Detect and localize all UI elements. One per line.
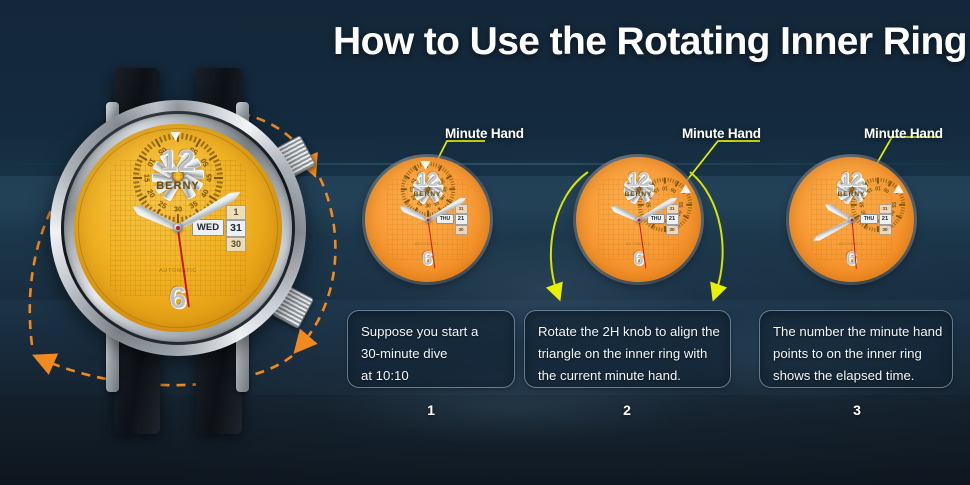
date-wheel: 312130 [665, 206, 679, 233]
step-watch-1: 0510152025303540455055126BERNYAUTOMATICT… [365, 157, 490, 282]
step-number-2: 2 [607, 402, 647, 418]
callout-1-line-2: 30-minute dive [361, 343, 501, 365]
date-text: 30 [879, 225, 892, 235]
minute-hand-label-2: Minute Hand [682, 126, 761, 141]
date-text: 21 [879, 214, 892, 224]
movement-label: AUTOMATIC [839, 242, 864, 246]
brand-label: BERNY [414, 191, 442, 198]
callout-2-line-2: triangle on the inner ring with [538, 343, 717, 365]
second-hand-pivot [850, 218, 853, 221]
callout-3-line-3: shows the elapsed time. [773, 365, 939, 387]
date-text: 30 [455, 225, 468, 235]
numeral-12: 12 [628, 170, 649, 192]
watch-dial: 0510152025303540455055126BERNYAUTOMATICT… [365, 157, 490, 282]
minute-hand-label-3: Minute Hand [864, 126, 943, 141]
callout-1: Suppose you start a 30-minute dive at 10… [347, 310, 515, 388]
callout-2: Rotate the 2H knob to align the triangle… [524, 310, 731, 388]
date-text: 30 [666, 225, 679, 235]
numeral-12: 12 [161, 143, 195, 179]
step-watch-2: 0510152025303540455055126BERNYAUTOMATICT… [576, 157, 701, 282]
date-text: 21 [455, 214, 468, 224]
ring-number-text: 55 [680, 202, 685, 208]
step-watch-3: 0510152025303540455055126BERNYAUTOMATICT… [789, 157, 914, 282]
ring-number-text: 55 [893, 202, 898, 208]
page-title: How to Use the Rotating Inner Ring [330, 20, 970, 64]
watch-dial: 0510152025303540455055126BERNYAUTOMATICT… [789, 157, 914, 282]
date-wheel: 1 31 30 [225, 206, 247, 250]
date-text: 21 [666, 214, 679, 224]
callout-1-line-3: at 10:10 [361, 365, 501, 387]
second-hand-pivot [426, 218, 429, 221]
callout-3-line-2: points to on the inner ring [773, 343, 939, 365]
callout-1-line-1: Suppose you start a [361, 321, 501, 343]
callout-3: The number the minute hand points to on … [759, 310, 953, 388]
brand-label: BERNY [838, 191, 866, 198]
step-number-1: 1 [411, 402, 451, 418]
brand-label: BERNY [625, 191, 653, 198]
second-hand-pivot [176, 226, 180, 230]
movement-label: AUTOMATIC [159, 268, 197, 274]
main-watch: 0510152025303540455055 12 6 BERNY AUTOMA… [28, 78, 328, 418]
minute-hand-label-1: Minute Hand [445, 126, 524, 141]
date-wheel: 312130 [454, 206, 468, 233]
numeral-12: 12 [417, 170, 438, 192]
watch-dial: 0510152025303540455055126BERNYAUTOMATICT… [576, 157, 701, 282]
brand-label: BERNY [156, 180, 200, 192]
callout-2-line-3: the current minute hand. [538, 365, 717, 387]
step-number-3: 3 [837, 402, 877, 418]
day-text: THU [861, 215, 877, 223]
numeral-6: 6 [169, 280, 186, 316]
second-hand-pivot [637, 218, 640, 221]
numeral-12: 12 [841, 170, 862, 192]
callout-2-line-1: Rotate the 2H knob to align the [538, 321, 717, 343]
callout-3-line-1: The number the minute hand [773, 321, 939, 343]
movement-label: AUTOMATIC [626, 242, 651, 246]
date-wheel: 312130 [878, 206, 892, 233]
infographic-canvas: How to Use the Rotating Inner Ring [0, 0, 970, 485]
date-text: 31 [879, 204, 892, 214]
watch-dial: 0510152025303540455055 12 6 BERNY AUTOMA… [74, 124, 282, 332]
movement-label: AUTOMATIC [415, 242, 440, 246]
day-window: THU [860, 214, 878, 224]
